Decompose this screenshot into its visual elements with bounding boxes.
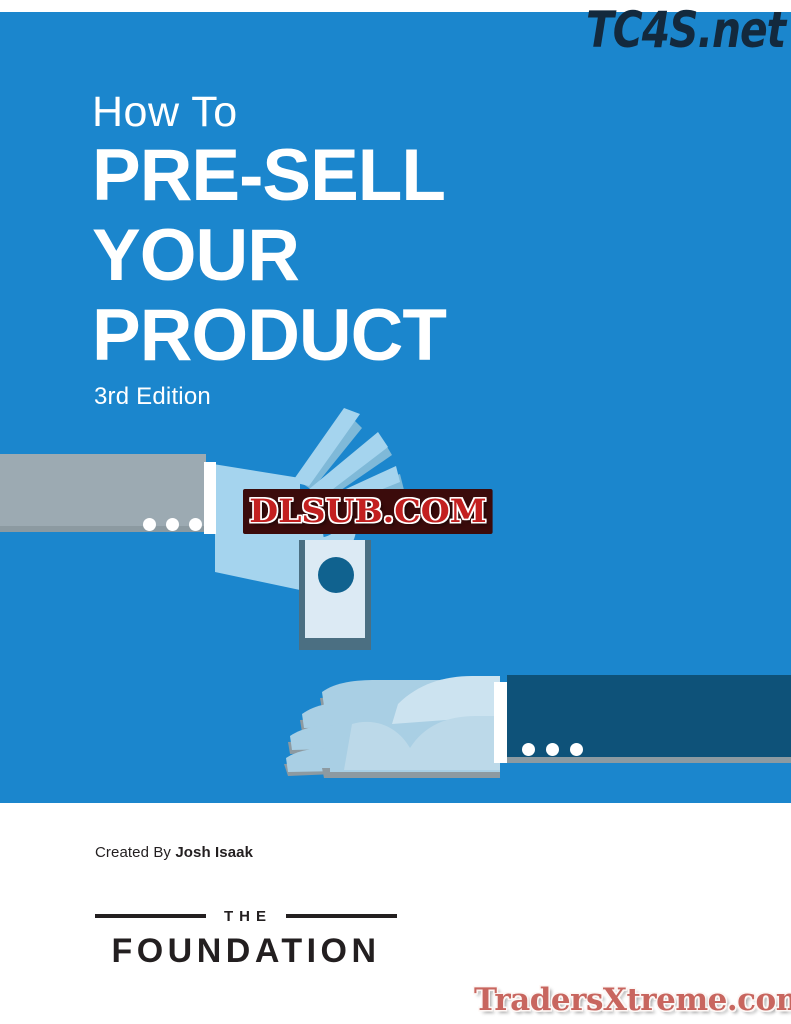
logo-rule-left <box>95 914 206 918</box>
banknote-seal <box>318 557 354 593</box>
logo-foundation-word: FOUNDATION <box>95 932 397 971</box>
sleeve-button <box>522 743 535 756</box>
sleeve-button <box>143 518 156 531</box>
logo-the-word: THE <box>220 908 272 925</box>
cover-illustration <box>0 12 791 803</box>
cover-blue-panel: How To PRE-SELL YOUR PRODUCT 3rd Edition <box>0 12 791 803</box>
author-name: Josh Isaak <box>175 844 253 861</box>
cover-footer: Created By Josh Isaak THE FOUNDATION <box>0 803 791 1024</box>
lower-cuff <box>494 682 507 763</box>
sleeve-button <box>189 518 202 531</box>
logo-top-row: THE <box>95 909 397 923</box>
upper-sleeve-buttons <box>143 518 202 531</box>
created-by-line: Created By Josh Isaak <box>95 844 253 861</box>
banknote-notch <box>305 626 317 638</box>
sleeve-button <box>166 518 179 531</box>
sleeve-button <box>570 743 583 756</box>
sleeve-button <box>546 743 559 756</box>
upper-cuff <box>204 462 216 534</box>
lower-sleeve-buttons <box>522 743 583 756</box>
book-cover-page: How To PRE-SELL YOUR PRODUCT 3rd Edition… <box>0 0 791 1024</box>
the-foundation-logo: THE FOUNDATION <box>95 909 397 971</box>
created-by-prefix: Created By <box>95 844 175 861</box>
logo-rule-right <box>286 914 397 918</box>
banknote-notch <box>353 626 365 638</box>
